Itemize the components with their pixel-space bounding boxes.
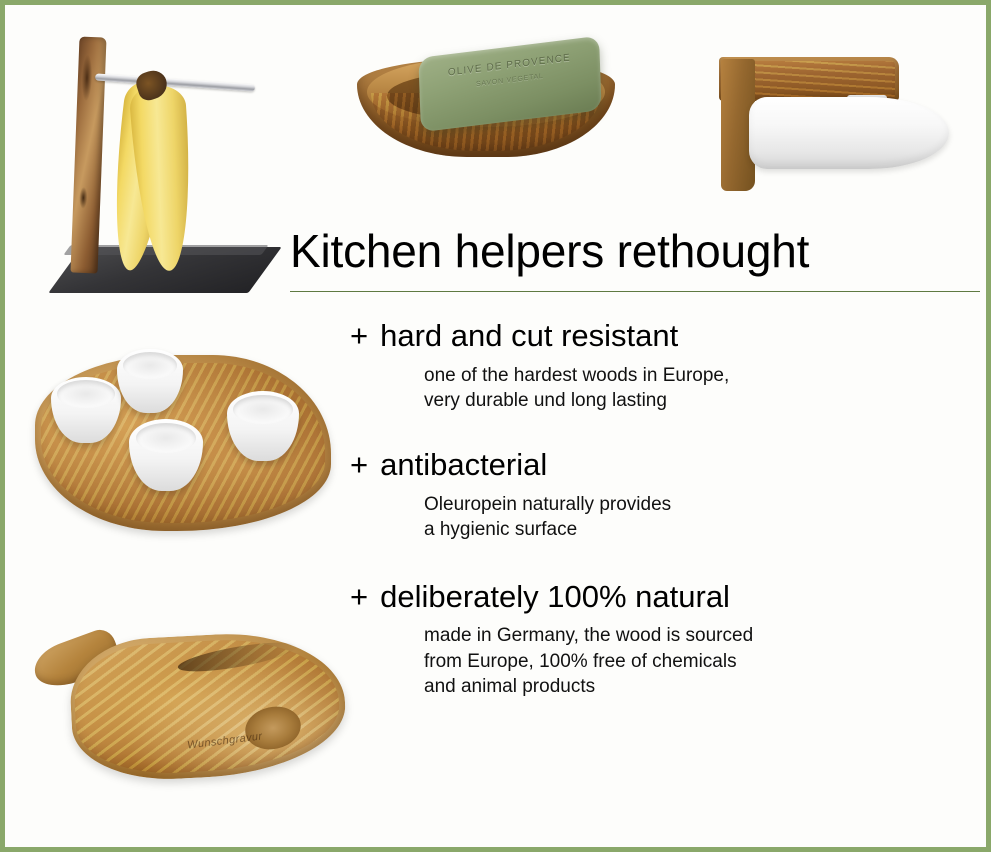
product-image-paper-towel-holder [719,43,959,193]
feature-description: made in Germany, the wood is sourced fro… [290,623,980,699]
wood-post-shape [70,37,106,274]
text-content-column: Kitchen helpers rethought +hard and cut … [290,227,980,699]
title-divider [290,291,980,292]
feature-description-line: Oleuropein naturally provides [424,492,980,517]
feature-description-line: one of the hardest woods in Europe, [424,363,980,388]
feature-heading: +deliberately 100% natural [290,579,980,615]
plus-icon: + [350,579,368,614]
feature-description-line: a hygienic surface [424,517,980,542]
feature-item: +hard and cut resistant one of the harde… [290,318,980,413]
feature-description-line: made in Germany, the wood is sourced [424,623,980,648]
feature-item: +antibacterial Oleuropein naturally prov… [290,447,980,542]
feature-heading: +hard and cut resistant [290,318,980,354]
product-image-soap-dish: OLIVE DE PROVENCE SAVON VEGETAL [357,31,617,161]
feature-item: +deliberately 100% natural made in Germa… [290,579,980,699]
product-image-banana-holder [55,19,285,305]
plus-icon: + [350,318,368,353]
feature-description-line: and animal products [424,674,980,699]
paper-roll-shape [749,97,949,169]
feature-description: Oleuropein naturally provides a hygienic… [290,492,980,543]
feature-heading-text: hard and cut resistant [380,318,678,353]
feature-description-line: from Europe, 100% free of chemicals [424,649,980,674]
plus-icon: + [350,447,368,482]
feature-heading-text: deliberately 100% natural [380,579,730,614]
feature-heading-text: antibacterial [380,447,547,482]
promotional-banner: OLIVE DE PROVENCE SAVON VEGETAL Wu [0,0,991,852]
page-title: Kitchen helpers rethought [290,227,980,275]
feature-description: one of the hardest woods in Europe, very… [290,363,980,414]
feature-description-line: very durable und long lasting [424,388,980,413]
feature-heading: +antibacterial [290,447,980,483]
banner-canvas: OLIVE DE PROVENCE SAVON VEGETAL Wu [5,5,986,847]
